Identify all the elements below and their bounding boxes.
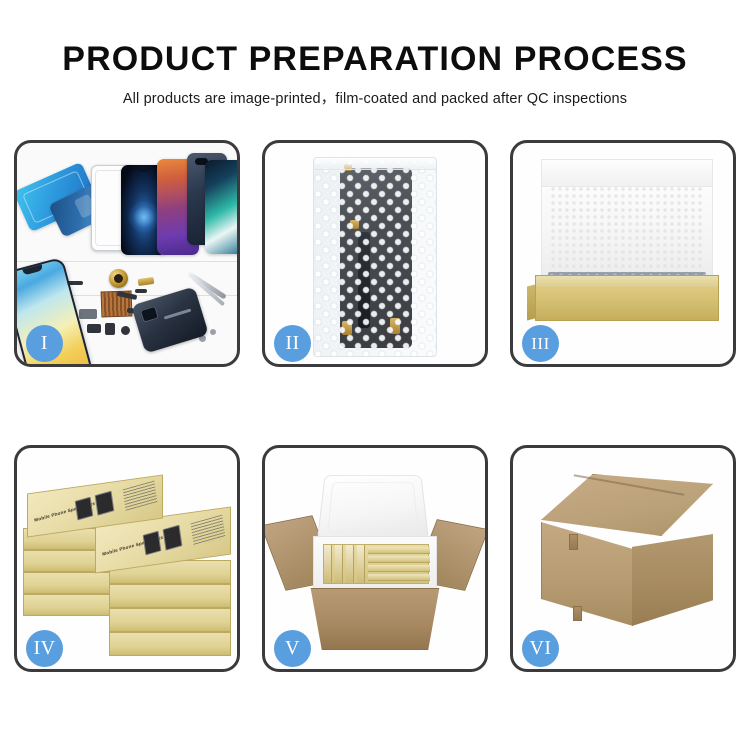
process-step-panel-4: Mobile Phone Spare Parts Mobile Phone Sp… (14, 445, 240, 672)
step-badge-5: V (274, 630, 311, 667)
spare-part-icon (138, 277, 155, 286)
camera-lens-icon (109, 269, 128, 288)
header: PRODUCT PREPARATION PROCESS All products… (0, 40, 750, 108)
carton-tape-icon (569, 534, 578, 550)
spare-part-icon (135, 289, 147, 293)
spare-part-icon (210, 329, 216, 335)
product-photo-icon (163, 525, 183, 551)
page-title: PRODUCT PREPARATION PROCESS (0, 40, 750, 78)
process-step-panel-1: I (14, 140, 240, 367)
kraft-box-base-icon (535, 275, 719, 321)
spare-part-icon (121, 326, 130, 335)
spare-part-icon (105, 323, 115, 335)
phone-back-housing-icon (131, 286, 209, 353)
process-step-panel-5: V (262, 445, 488, 672)
bag-seal-icon (314, 158, 436, 170)
carton-front-face-icon (541, 522, 633, 626)
process-step-grid: I II (14, 140, 736, 672)
packed-kraft-boxes-icon (323, 544, 429, 584)
styrofoam-lid-icon (317, 475, 429, 542)
step-badge-6: VI (522, 630, 559, 667)
kraft-box-side (109, 632, 231, 656)
carton-tape-icon (573, 606, 582, 621)
process-step-panel-3: III (510, 140, 736, 367)
step-badge-3: III (522, 325, 559, 362)
product-preparation-infographic: PRODUCT PREPARATION PROCESS All products… (0, 0, 750, 750)
teal-phone-icon (205, 160, 237, 254)
kraft-box-side (109, 608, 231, 632)
spare-part-icon (79, 309, 97, 319)
step-badge-2: II (274, 325, 311, 362)
carton-body-icon (305, 588, 445, 650)
step-badge-4: IV (26, 630, 63, 667)
step-badge-1: I (26, 325, 63, 362)
bubble-texture (314, 158, 436, 356)
product-photo-icon (143, 531, 162, 556)
white-foam-padding-icon (541, 159, 713, 281)
process-step-panel-6: VI (510, 445, 736, 672)
spare-part-icon (87, 324, 101, 333)
carton-side-face-icon (632, 534, 713, 626)
process-step-panel-2: II (262, 140, 488, 367)
page-subtitle: All products are image-printed，film-coat… (0, 87, 750, 108)
bubble-wrap-bag-icon (313, 157, 437, 357)
kraft-box-side (109, 584, 231, 608)
